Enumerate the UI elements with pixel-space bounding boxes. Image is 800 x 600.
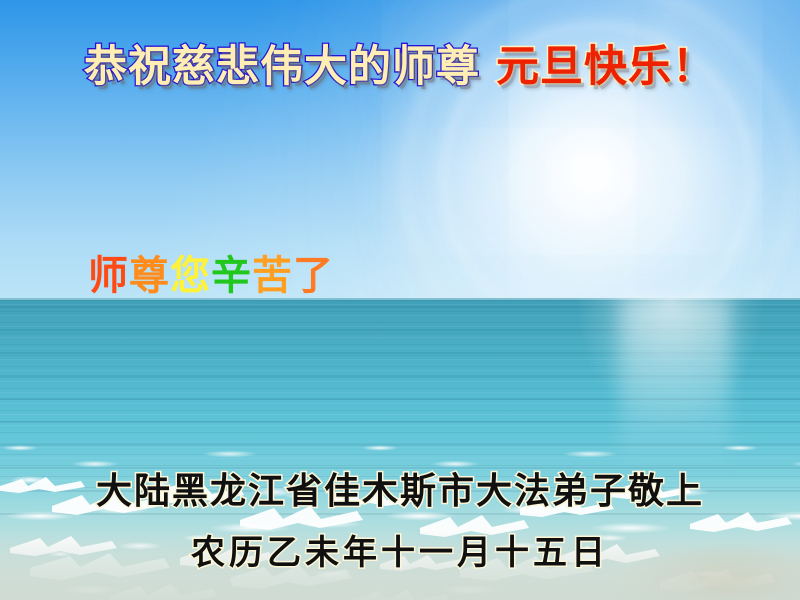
- middle-message-char-2: 您: [170, 243, 211, 301]
- middle-message-char-4: 苦: [252, 243, 293, 301]
- middle-message-char-5: 了: [293, 243, 334, 301]
- headline-blessing-text: 恭祝慈悲伟大的师尊: [84, 46, 480, 89]
- signature-date-line: 农历乙未年十一月十五日: [0, 525, 800, 574]
- sun-icon: [590, 172, 592, 174]
- middle-message-char-0: 师: [88, 243, 129, 301]
- middle-message-char-3: 辛: [211, 243, 252, 301]
- greeting-card-canvas: 恭祝慈悲伟大的师尊元旦快乐！ 师尊您辛苦了 大陆黑龙江省佳木斯市大法弟子敬上 农…: [0, 0, 800, 600]
- middle-message-text: 师尊您辛苦了: [88, 243, 334, 301]
- headline-new-year-greeting: 元旦快乐！: [496, 46, 716, 89]
- middle-message-char-1: 尊: [129, 243, 170, 301]
- headline-banner: 恭祝慈悲伟大的师尊元旦快乐！: [0, 44, 800, 89]
- signature-sender-line: 大陆黑龙江省佳木斯市大法弟子敬上: [0, 462, 800, 514]
